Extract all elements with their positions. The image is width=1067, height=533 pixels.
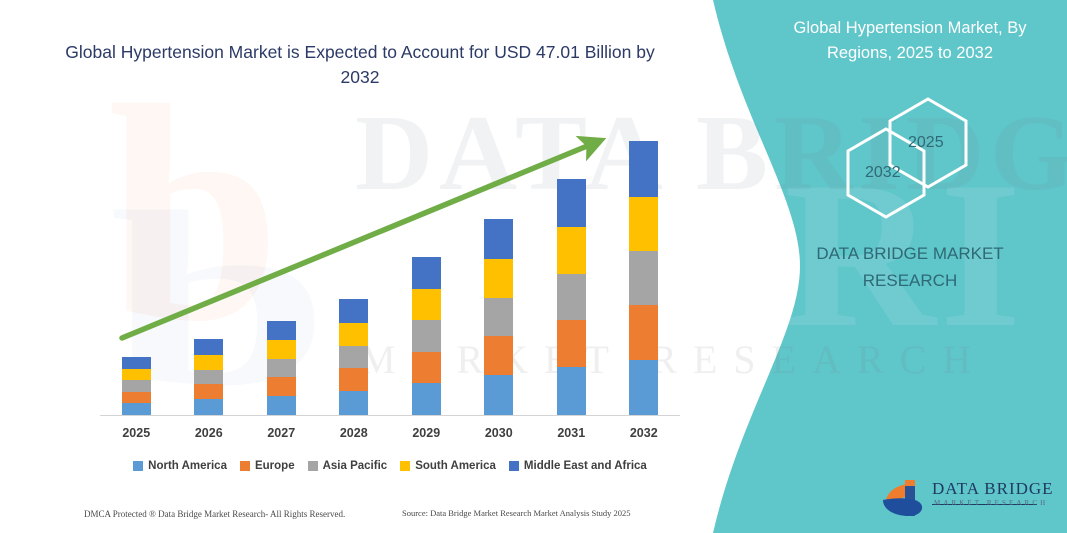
chart-legend: North AmericaEuropeAsia PacificSouth Ame… — [100, 460, 680, 472]
logo-title: DATA BRIDGE — [932, 479, 1054, 499]
legend-item-south-america[interactable]: South America — [400, 460, 496, 472]
segment-asia-pacific — [557, 274, 586, 321]
legend-item-asia-pacific[interactable]: Asia Pacific — [308, 460, 388, 472]
legend-swatch — [133, 461, 143, 471]
legend-item-north-america[interactable]: North America — [133, 460, 227, 472]
stacked-bar-chart — [100, 120, 680, 416]
segment-north-america — [122, 403, 151, 415]
segment-middle-east-and-africa — [194, 339, 223, 355]
bar-2029 — [412, 257, 441, 415]
legend-swatch — [240, 461, 250, 471]
segment-south-america — [339, 323, 368, 346]
segment-europe — [194, 384, 223, 399]
segment-asia-pacific — [629, 251, 658, 305]
legend-label: North America — [148, 460, 227, 472]
segment-north-america — [484, 375, 513, 415]
brand-line-2: RESEARCH — [760, 267, 1060, 294]
bar-2025 — [122, 357, 151, 415]
legend-label: Middle East and Africa — [524, 460, 647, 472]
segment-middle-east-and-africa — [557, 179, 586, 227]
right-panel-title: Global Hypertension Market, By Regions, … — [760, 16, 1060, 66]
legend-swatch — [509, 461, 519, 471]
legend-item-europe[interactable]: Europe — [240, 460, 295, 472]
x-label-2026: 2026 — [179, 426, 239, 440]
legend-swatch — [308, 461, 318, 471]
x-label-2029: 2029 — [396, 426, 456, 440]
trend-arrow-icon — [100, 120, 680, 416]
x-label-2025: 2025 — [106, 426, 166, 440]
segment-north-america — [557, 367, 586, 415]
segment-europe — [557, 320, 586, 367]
segment-south-america — [629, 197, 658, 251]
segment-middle-east-and-africa — [267, 321, 296, 340]
legend-label: Europe — [255, 460, 295, 472]
segment-asia-pacific — [339, 346, 368, 369]
chart-card: b b DATA BRIDGE MARKET RESEARCH Global H… — [0, 0, 720, 533]
segment-north-america — [629, 360, 658, 415]
bar-2027 — [267, 321, 296, 415]
segment-middle-east-and-africa — [629, 141, 658, 196]
segment-asia-pacific — [122, 380, 151, 391]
chart-title: Global Hypertension Market is Expected t… — [60, 40, 660, 91]
segment-europe — [122, 392, 151, 403]
segment-south-america — [267, 340, 296, 358]
footer-copyright: DMCA Protected ® Data Bridge Market Rese… — [84, 509, 345, 519]
segment-europe — [339, 368, 368, 391]
segment-south-america — [484, 259, 513, 298]
hexagon-group: 2025 2032 — [828, 95, 998, 225]
bar-2026 — [194, 339, 223, 415]
legend-swatch — [400, 461, 410, 471]
segment-asia-pacific — [412, 320, 441, 351]
logo-subtitle: MARKET RESEARCH — [934, 499, 1048, 507]
hexagon-2025-label: 2025 — [908, 134, 944, 152]
segment-south-america — [412, 289, 441, 320]
x-label-2027: 2027 — [251, 426, 311, 440]
segment-europe — [484, 336, 513, 375]
bar-2031 — [557, 179, 586, 415]
x-label-2028: 2028 — [324, 426, 384, 440]
segment-south-america — [122, 369, 151, 380]
x-label-2030: 2030 — [469, 426, 529, 440]
brand-line-1: DATA BRIDGE MARKET — [760, 240, 1060, 267]
segment-middle-east-and-africa — [122, 357, 151, 369]
legend-label: South America — [415, 460, 496, 472]
segment-north-america — [267, 396, 296, 415]
footer-source: Source: Data Bridge Market Research Mark… — [402, 508, 631, 518]
x-label-2031: 2031 — [541, 426, 601, 440]
segment-asia-pacific — [484, 298, 513, 337]
segment-europe — [412, 352, 441, 383]
segment-asia-pacific — [267, 359, 296, 377]
segment-europe — [267, 377, 296, 395]
bar-2028 — [339, 299, 368, 415]
x-label-2032: 2032 — [614, 426, 674, 440]
x-axis-labels: 20252026202720282029203020312032 — [100, 426, 680, 446]
segment-middle-east-and-africa — [412, 257, 441, 289]
segment-middle-east-and-africa — [339, 299, 368, 323]
segment-south-america — [194, 355, 223, 370]
segment-asia-pacific — [194, 370, 223, 385]
legend-item-middle-east-and-africa[interactable]: Middle East and Africa — [509, 460, 647, 472]
segment-middle-east-and-africa — [484, 219, 513, 259]
segment-europe — [629, 305, 658, 359]
segment-north-america — [339, 391, 368, 415]
x-axis-line — [100, 415, 680, 416]
legend-label: Asia Pacific — [323, 460, 388, 472]
segment-south-america — [557, 227, 586, 274]
segment-north-america — [194, 399, 223, 415]
hexagon-2032-label: 2032 — [865, 164, 901, 182]
bar-2032 — [629, 141, 658, 415]
bar-2030 — [484, 219, 513, 415]
brand-text: DATA BRIDGE MARKET RESEARCH — [760, 240, 1060, 294]
segment-north-america — [412, 383, 441, 415]
